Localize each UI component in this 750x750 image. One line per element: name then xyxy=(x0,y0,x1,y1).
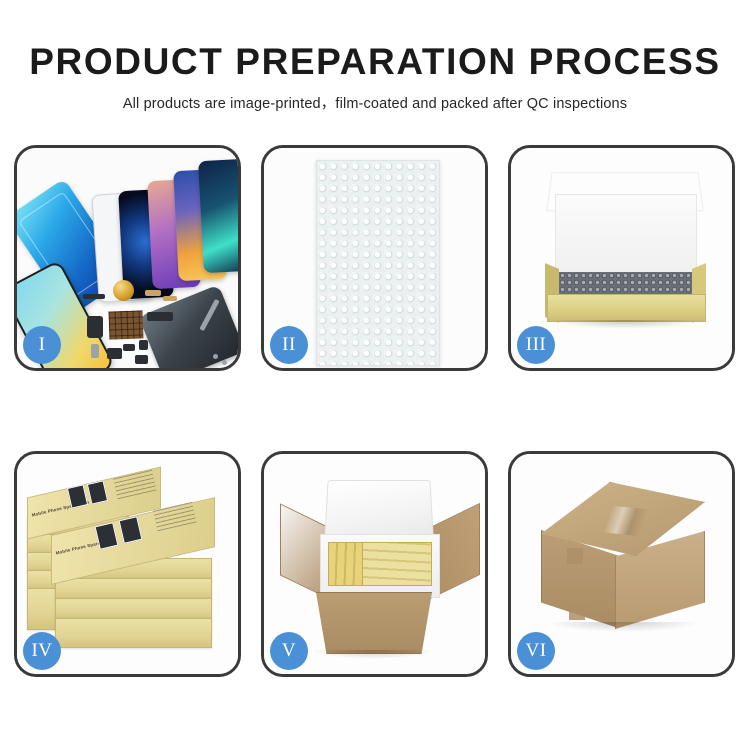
page-title: PRODUCT PREPARATION PROCESS xyxy=(0,0,750,82)
component-flex-left xyxy=(87,316,103,338)
process-step-panel-1[interactable]: I xyxy=(14,145,241,371)
step-badge-2: II xyxy=(270,326,308,364)
step-badge-6: VI xyxy=(517,632,555,670)
component-sim-tray xyxy=(91,344,99,358)
carton-shadow xyxy=(312,650,434,659)
stack-box-front-3 xyxy=(55,578,212,600)
component-chip-small-2 xyxy=(139,340,148,350)
stack-box-front-1 xyxy=(55,618,212,648)
foam-sheet xyxy=(555,194,697,274)
wireless-charging-coil xyxy=(113,280,134,301)
component-flex-right xyxy=(147,312,173,321)
stack-box-front-2 xyxy=(55,598,212,620)
component-screw-1 xyxy=(213,354,218,359)
page-header: PRODUCT PREPARATION PROCESS All products… xyxy=(0,0,750,113)
component-bar-1 xyxy=(83,294,105,299)
page-subtitle: All products are image-printed，film-coat… xyxy=(0,82,750,113)
component-screw-2 xyxy=(222,360,227,365)
process-step-panel-3[interactable]: III xyxy=(508,145,735,371)
process-step-grid: I II III xyxy=(14,145,736,677)
component-flex-tan-1 xyxy=(145,290,161,296)
component-flex-tan-2 xyxy=(163,296,177,301)
step-badge-5: V xyxy=(270,632,308,670)
component-camera-module xyxy=(135,355,148,364)
process-step-panel-6[interactable]: VI xyxy=(508,451,735,677)
inner-boxes-row-right xyxy=(362,542,432,586)
carton-tape-upper xyxy=(567,548,583,564)
step-badge-1: I xyxy=(23,326,61,364)
logic-board-chip xyxy=(109,310,144,339)
foam-box-lid xyxy=(324,480,433,538)
step-badge-3: III xyxy=(517,326,555,364)
process-step-panel-4[interactable]: Mobile Phone Spare Parts Mobile Phone Sp… xyxy=(14,451,241,677)
carton-front-panel xyxy=(308,592,440,654)
component-speaker xyxy=(107,348,122,359)
bubble-wrap-bag xyxy=(316,160,440,366)
process-step-panel-5[interactable]: V xyxy=(261,451,488,677)
component-chip-small-1 xyxy=(123,344,135,351)
phone-teal-wallpaper xyxy=(198,159,238,273)
step-badge-4: IV xyxy=(23,632,61,670)
carton-shadow xyxy=(545,622,701,632)
process-step-panel-2[interactable]: II xyxy=(261,145,488,371)
carton-tape-lower xyxy=(569,606,585,620)
box-front-panel xyxy=(547,294,706,322)
box-shadow xyxy=(551,320,701,329)
